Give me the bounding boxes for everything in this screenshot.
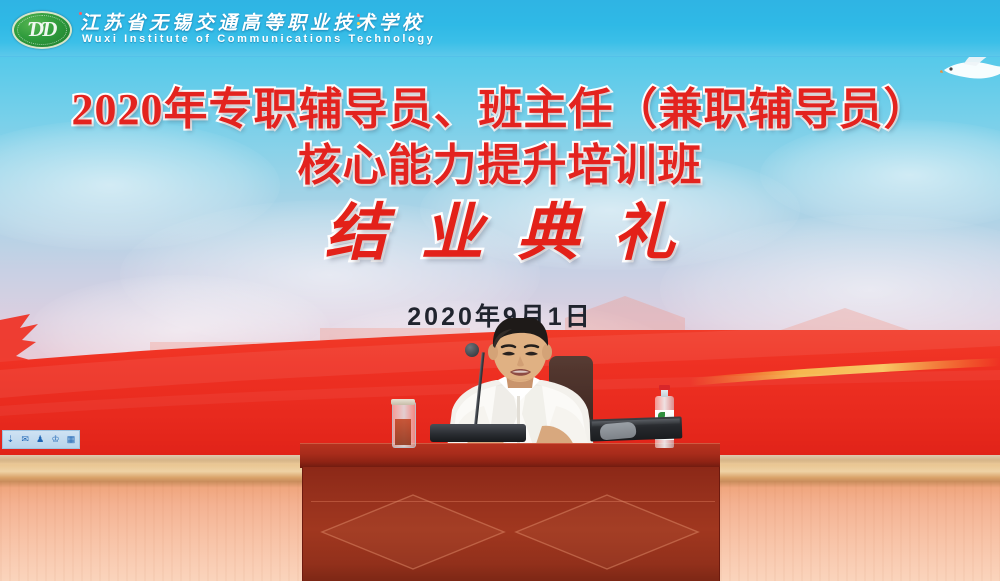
envelope-icon: ✉ (21, 435, 29, 444)
microphone-head (465, 343, 479, 357)
microphone-base (430, 424, 526, 442)
grid-icon: ▦ (67, 435, 76, 444)
school-name-cn: 江苏省无锡交通高等职业技术学校 (80, 8, 425, 35)
banner-title-block: 2020年专职辅导员、班主任（兼职辅导员） 核心能力提升培训班 (0, 84, 1000, 192)
bottle-cap (659, 385, 670, 390)
computer-mouse (599, 421, 636, 440)
tea-liquid (395, 419, 411, 445)
banner-title-line-1: 2020年专职辅导员、班主任（兼职辅导员） (0, 84, 1000, 136)
person-icon: ♟ (36, 435, 44, 444)
banner-header-band: ƊƊ 江苏省无锡交通高等职业技术学校 Wuxi Institute of Com… (0, 0, 1000, 57)
ceremony-title: 结业典礼 (0, 196, 1000, 272)
podium-moulding (311, 501, 715, 502)
bottle-neck (661, 389, 668, 397)
arrow-down-icon: ⇣ (7, 435, 15, 444)
screenshot-root: ⇣ ✉ ♟ ♔ ▦ ƊƊ 江苏省无锡交通高等职业技术学校 Wuxi Instit… (0, 0, 1000, 581)
decor-dot (357, 14, 360, 17)
cup-lid (391, 399, 415, 405)
decor-dot (357, 22, 360, 25)
school-name-en: Wuxi Institute of Communications Technol… (82, 33, 435, 45)
banner-title-line-2: 核心能力提升培训班 (0, 140, 1000, 192)
school-emblem-icon: ƊƊ (12, 11, 72, 49)
shirt-icon: ♔ (51, 435, 59, 444)
glass-tea-cup (392, 402, 416, 448)
podium-table (300, 443, 720, 581)
podium-front-panel (302, 467, 720, 581)
facility-sign-strip: ⇣ ✉ ♟ ♔ ▦ (2, 430, 80, 449)
